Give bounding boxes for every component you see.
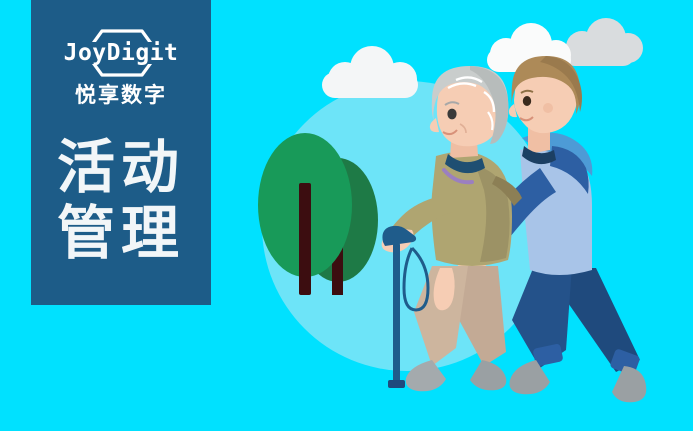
woman-front-shoe — [406, 360, 446, 391]
page-title: 活动 管理 — [31, 134, 211, 266]
man-back-shoe — [612, 366, 646, 402]
page-title-line-2: 管理 — [31, 200, 211, 266]
cloud-right-back-icon — [563, 18, 643, 66]
cane-shaft — [393, 243, 400, 386]
brand-panel: JoyDigit 悦享数字 活动 管理 — [31, 0, 211, 305]
man-ear — [543, 103, 553, 113]
page-title-line-1: 活动 — [31, 134, 211, 200]
logo-wordmark: JoyDigit — [64, 40, 179, 66]
poster-root: JoyDigit 悦享数字 活动 管理 — [0, 0, 693, 431]
cane-tip — [388, 380, 405, 388]
brand-name-cn: 悦享数字 — [31, 84, 211, 107]
joydigit-logo-icon: JoyDigit — [45, 26, 197, 80]
logo-block: JoyDigit 悦享数字 — [31, 26, 211, 107]
cloud-left-icon — [322, 46, 418, 98]
woman-back-shoe — [470, 360, 506, 390]
man-eye — [523, 96, 531, 106]
woman-eye — [447, 109, 456, 120]
